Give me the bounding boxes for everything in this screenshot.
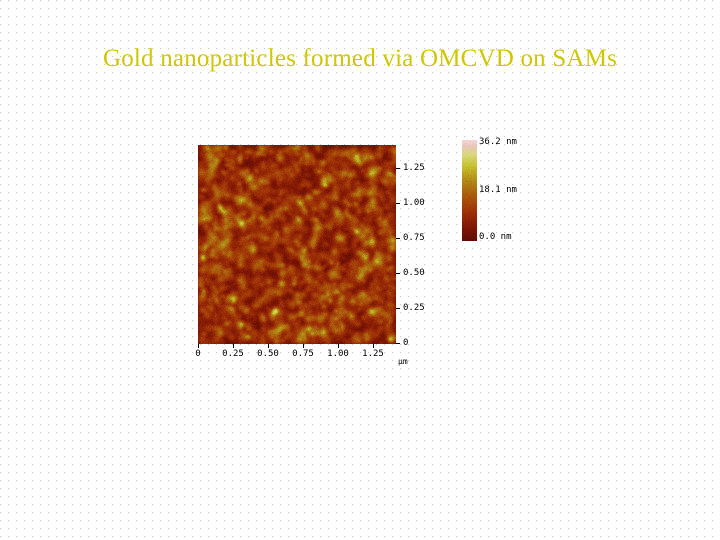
y-tick-mark-5 xyxy=(396,308,400,309)
y-axis-tick-label-025: 0.25 xyxy=(403,304,425,313)
y-axis-tick-label-100: 1.00 xyxy=(403,199,425,208)
x-tick-mark-4 xyxy=(303,344,304,348)
y-tick-mark-6 xyxy=(396,343,400,344)
x-axis-unit-label: µm xyxy=(398,358,408,366)
x-tick-mark-5 xyxy=(338,344,339,348)
x-tick-mark-1 xyxy=(198,344,199,348)
afm-scan-image xyxy=(198,145,396,344)
y-tick-mark-1 xyxy=(396,168,400,169)
afm-heatmap-canvas xyxy=(198,145,396,344)
colorbar-max-label: 36.2 nm xyxy=(479,138,517,147)
y-axis-tick-label-075: 0.75 xyxy=(403,234,425,243)
colorbar-gradient-canvas xyxy=(462,140,477,241)
y-axis-tick-label-0: 0 xyxy=(403,339,408,348)
slide-canvas: Gold nanoparticles formed via OMCVD on S… xyxy=(0,0,720,540)
colorbar-mid-label: 18.1 nm xyxy=(479,186,517,195)
x-axis-tick-label-050: 0.50 xyxy=(253,350,283,359)
afm-figure: 1.25 1.00 0.75 0.50 0.25 0 0 0.25 0.50 0… xyxy=(0,0,720,540)
x-axis-tick-label-025: 0.25 xyxy=(218,350,248,359)
x-tick-mark-6 xyxy=(373,344,374,348)
x-axis-tick-label-125: 1.25 xyxy=(358,350,388,359)
y-tick-mark-3 xyxy=(396,238,400,239)
y-axis-tick-label-125: 1.25 xyxy=(403,164,425,173)
y-axis-tick-label-050: 0.50 xyxy=(403,269,425,278)
x-axis-tick-label-075: 0.75 xyxy=(288,350,318,359)
x-axis-tick-label-0: 0 xyxy=(183,350,213,359)
y-tick-mark-2 xyxy=(396,203,400,204)
height-colorbar xyxy=(462,140,477,241)
colorbar-min-label: 0.0 nm xyxy=(479,233,512,242)
y-tick-mark-4 xyxy=(396,273,400,274)
x-axis-tick-label-100: 1.00 xyxy=(323,350,353,359)
x-tick-mark-2 xyxy=(233,344,234,348)
x-tick-mark-3 xyxy=(268,344,269,348)
